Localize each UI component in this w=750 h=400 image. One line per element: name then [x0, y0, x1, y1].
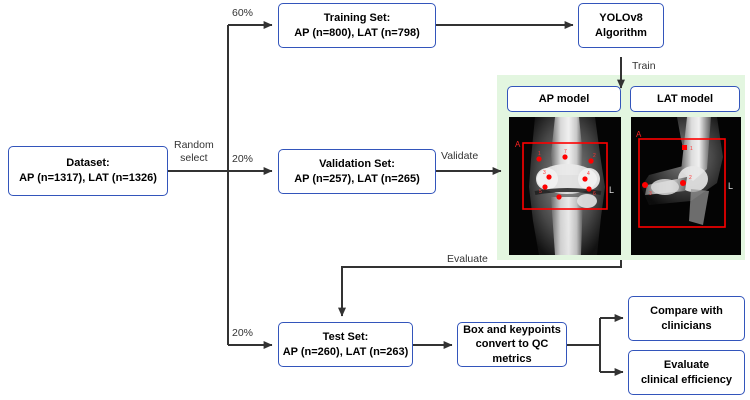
flowchart-canvas: Dataset: AP (n=1317), LAT (n=1326) Train…: [0, 0, 750, 400]
node-lat-model-label: LAT model: [657, 92, 713, 107]
node-yolov8-line2: Algorithm: [595, 26, 647, 41]
edge-label-random-select-line1: Random: [174, 139, 214, 152]
svg-text:2: 2: [593, 153, 596, 159]
node-ap-model[interactable]: AP model: [507, 86, 621, 112]
svg-text:L: L: [728, 181, 733, 191]
wire-evaluate-to-test: [342, 260, 621, 316]
svg-text:7: 7: [564, 149, 567, 155]
lat-radiograph-image: A L 1 2 3: [631, 117, 741, 255]
svg-text:1: 1: [538, 151, 541, 157]
svg-text:5: 5: [539, 189, 542, 195]
node-qc-metrics-line2: convert to QC metrics: [458, 337, 566, 366]
node-yolov8-algorithm[interactable]: YOLOv8 Algorithm: [578, 3, 664, 48]
svg-text:1: 1: [690, 146, 693, 152]
edge-label-train: Train: [632, 60, 656, 73]
node-dataset-line1: Dataset:: [66, 156, 109, 171]
node-test-set-line2: AP (n=260), LAT (n=263): [283, 345, 409, 360]
edge-label-random-select-line2: select: [174, 152, 214, 165]
edge-label-validate: Validate: [441, 150, 478, 163]
svg-text:A: A: [636, 130, 642, 139]
svg-text:A: A: [515, 140, 521, 149]
node-yolov8-line1: YOLOv8: [599, 11, 642, 26]
edge-label-random-select: Random select: [174, 139, 214, 165]
svg-text:6: 6: [593, 191, 596, 197]
edge-label-pct-validation: 20%: [232, 153, 253, 166]
node-training-set-line2: AP (n=800), LAT (n=798): [294, 26, 420, 41]
node-compare-line2: clinicians: [661, 319, 711, 334]
svg-text:L: L: [609, 185, 614, 195]
svg-text:3: 3: [649, 191, 652, 197]
svg-text:3: 3: [543, 170, 546, 176]
node-test-set-line1: Test Set:: [323, 330, 369, 345]
node-test-set[interactable]: Test Set: AP (n=260), LAT (n=263): [278, 322, 413, 367]
node-validation-set-line1: Validation Set:: [319, 157, 395, 172]
node-evaluate-clinical-efficiency[interactable]: Evaluate clinical efficiency: [628, 350, 745, 395]
node-training-set-line1: Training Set:: [324, 11, 391, 26]
node-compare-with-clinicians[interactable]: Compare with clinicians: [628, 296, 745, 341]
node-evaluate-eff-line1: Evaluate: [664, 358, 709, 373]
edge-label-pct-test: 20%: [232, 327, 253, 340]
svg-text:2: 2: [689, 175, 692, 181]
ap-radiograph-image: A L 172 34 56: [509, 117, 621, 255]
svg-text:4: 4: [587, 171, 590, 177]
edge-label-pct-train: 60%: [232, 7, 253, 20]
node-dataset[interactable]: Dataset: AP (n=1317), LAT (n=1326): [8, 146, 168, 196]
node-qc-metrics-line1: Box and keypoints: [463, 323, 561, 338]
node-ap-model-label: AP model: [539, 92, 590, 107]
node-compare-line1: Compare with: [650, 304, 723, 319]
node-validation-set-line2: AP (n=257), LAT (n=265): [294, 172, 420, 187]
node-qc-metrics[interactable]: Box and keypoints convert to QC metrics: [457, 322, 567, 367]
node-evaluate-eff-line2: clinical efficiency: [641, 373, 732, 388]
node-validation-set[interactable]: Validation Set: AP (n=257), LAT (n=265): [278, 149, 436, 194]
edge-label-evaluate: Evaluate: [447, 253, 488, 266]
node-training-set[interactable]: Training Set: AP (n=800), LAT (n=798): [278, 3, 436, 48]
node-lat-model[interactable]: LAT model: [630, 86, 740, 112]
node-dataset-line2: AP (n=1317), LAT (n=1326): [19, 171, 157, 186]
